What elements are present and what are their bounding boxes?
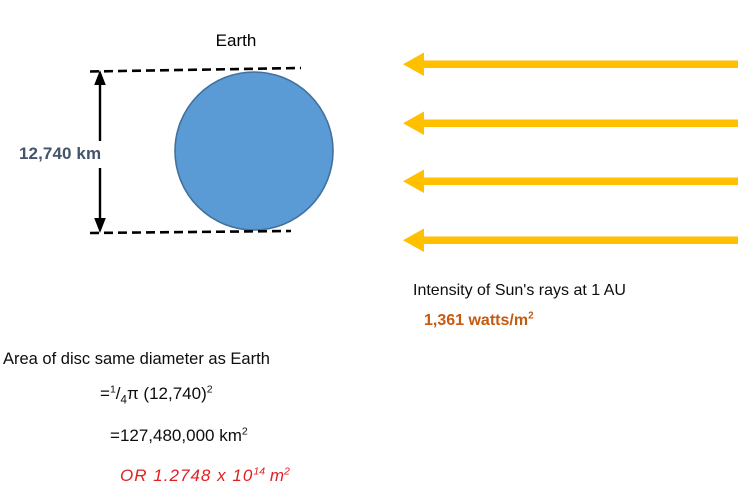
eq3-unit: m [270, 466, 284, 485]
area-calc-line-2: =127,480,000 km2 [110, 426, 248, 446]
earth-disc [175, 72, 333, 230]
eq2-equals: = [110, 426, 120, 445]
sun-ray-arrow-2 [403, 112, 738, 136]
eq2-unit: km [214, 426, 241, 445]
sun-intensity-value-exponent: 2 [528, 311, 534, 322]
diagram-canvas: Earth 12,740 km Intensity of Sun's rays … [0, 0, 738, 497]
eq1-pi: π [127, 384, 139, 403]
sun-intensity-value-text: 1,361 watts/m [424, 312, 528, 329]
diagram-vector-layer [0, 0, 738, 497]
sun-ray-arrow-4 [403, 229, 738, 253]
sun-ray-arrow-1 [403, 53, 738, 77]
dimension-arrow-down [94, 168, 106, 233]
eq2-exponent: 2 [242, 425, 248, 437]
eq2-value: 127,480,000 [120, 426, 215, 445]
earth-diameter-label: 12,740 km [19, 144, 101, 164]
top-dimension-guide [90, 68, 301, 72]
eq3-exponent: 14 [253, 465, 265, 477]
area-calc-heading: Area of disc same diameter as Earth [3, 350, 270, 369]
eq1-value: 12,740 [149, 384, 201, 403]
eq1-equals: = [100, 384, 110, 403]
earth-label: Earth [181, 30, 291, 52]
bottom-dimension-guide [90, 231, 291, 233]
eq1-exponent: 2 [207, 383, 213, 395]
area-calc-line-1: =1/4π (12,740)2 [100, 384, 213, 404]
dimension-arrow-up [94, 70, 106, 141]
sun-ray-arrow-3 [403, 170, 738, 194]
eq3-prefix: OR 1.2748 x 10 [120, 466, 253, 485]
sun-intensity-value: 1,361 watts/m2 [424, 312, 534, 330]
eq3-unit-exponent: 2 [284, 465, 290, 477]
area-calc-line-3: OR 1.2748 x 1014 m2 [120, 466, 290, 486]
eq1-paren-open: ( [139, 384, 149, 403]
sun-intensity-caption: Intensity of Sun's rays at 1 AU [413, 282, 626, 300]
